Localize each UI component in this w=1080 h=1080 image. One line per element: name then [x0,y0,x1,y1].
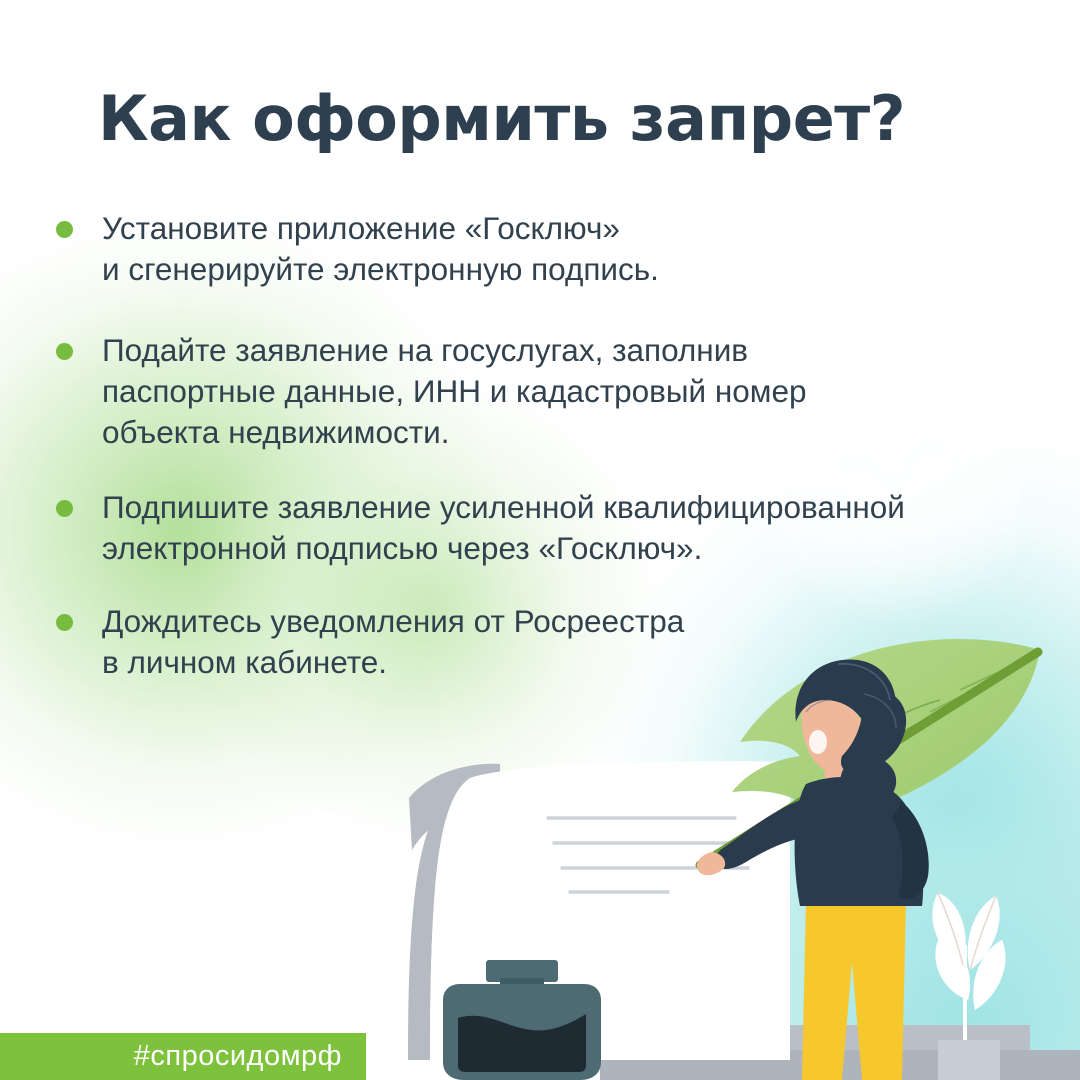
steps-list: Установите приложение «Госключ» и сгенер… [50,208,1040,713]
bullet-dot-icon [56,221,73,238]
infographic-poster: Как оформить запрет? Установите приложен… [0,0,1080,1080]
list-item-text: Подпишите заявление усиленной квалифицир… [102,487,905,569]
list-item: Подайте заявление на госуслугах, заполни… [50,330,1040,453]
page-title: Как оформить запрет? [98,86,905,151]
list-item-text: Подайте заявление на госуслугах, заполни… [102,330,807,453]
list-item: Дождитесь уведомления от Росреестра в ли… [50,601,1040,683]
list-item-text: Дождитесь уведомления от Росреестра в ли… [102,601,684,683]
bullet-dot-icon [56,500,73,517]
list-item: Подпишите заявление усиленной квалифицир… [50,487,1040,569]
bullet-dot-icon [56,614,73,631]
hashtag-label: #спросидомрф [134,1040,366,1073]
list-item-text: Установите приложение «Госключ» и сгенер… [102,208,659,290]
list-item: Установите приложение «Госключ» и сгенер… [50,208,1040,290]
text-content: Как оформить запрет? Установите приложен… [0,0,1080,1080]
hashtag-banner: #спросидомрф [0,1033,366,1080]
bullet-dot-icon [56,343,73,360]
